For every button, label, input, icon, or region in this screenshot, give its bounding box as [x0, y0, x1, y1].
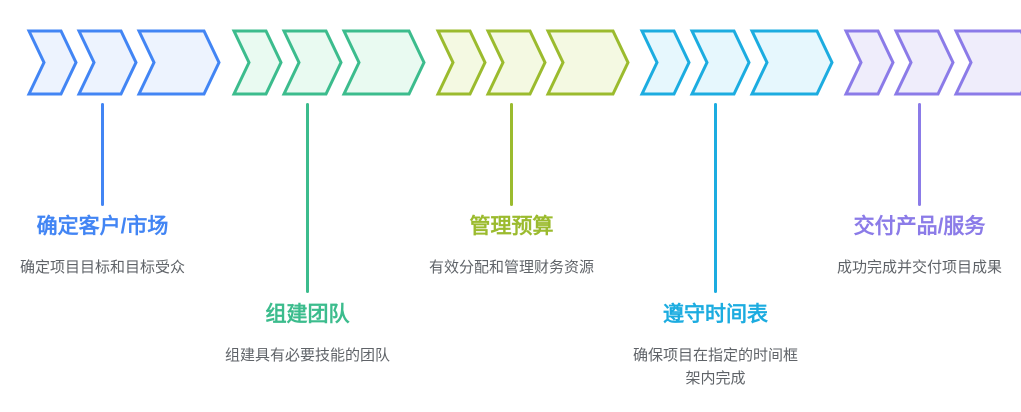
chevron-arrow-icon	[642, 31, 689, 94]
step-title: 管理预算	[409, 214, 614, 240]
connector-line	[510, 103, 513, 206]
connector-line	[306, 103, 309, 293]
step-description: 确定项目目标和目标受众	[0, 256, 205, 279]
chevron-arrow-icon	[488, 31, 545, 94]
step-title: 组建团队	[205, 302, 410, 328]
chevron-arrow-icon	[29, 31, 76, 94]
chevron-arrow-icon	[284, 31, 341, 94]
connector-line	[714, 103, 717, 293]
infographic-canvas: 确定客户/市场确定项目目标和目标受众组建团队组建具有必要技能的团队管理预算有效分…	[0, 0, 1021, 412]
connector-line	[918, 103, 921, 206]
connector-line	[101, 103, 104, 206]
chevron-arrow-icon	[896, 31, 953, 94]
step-description: 有效分配和管理财务资源	[409, 256, 614, 279]
process-step: 确定客户/市场确定项目目标和目标受众	[0, 0, 205, 412]
process-step: 组建团队组建具有必要技能的团队	[205, 0, 410, 412]
step-description: 确保项目在指定的时间框架内完成	[613, 344, 818, 390]
chevron-arrow-group	[817, 0, 1021, 100]
step-description: 组建具有必要技能的团队	[205, 344, 410, 367]
chevron-arrow-icon	[956, 31, 1021, 94]
chevron-arrow-icon	[692, 31, 749, 94]
chevron-arrow-icon	[438, 31, 485, 94]
process-step: 管理预算有效分配和管理财务资源	[409, 0, 614, 412]
chevron-arrow-group	[205, 0, 410, 100]
step-title: 确定客户/市场	[0, 214, 205, 240]
chevron-arrow-icon	[846, 31, 893, 94]
chevron-arrow-icon	[234, 31, 281, 94]
chevron-arrow-group	[613, 0, 818, 100]
process-step: 遵守时间表确保项目在指定的时间框架内完成	[613, 0, 818, 412]
step-title: 遵守时间表	[613, 302, 818, 328]
step-description: 成功完成并交付项目成果	[817, 256, 1021, 279]
process-step: 交付产品/服务成功完成并交付项目成果	[817, 0, 1021, 412]
chevron-arrow-group	[0, 0, 205, 100]
chevron-arrow-icon	[79, 31, 136, 94]
step-title: 交付产品/服务	[817, 214, 1021, 240]
chevron-arrow-group	[409, 0, 614, 100]
